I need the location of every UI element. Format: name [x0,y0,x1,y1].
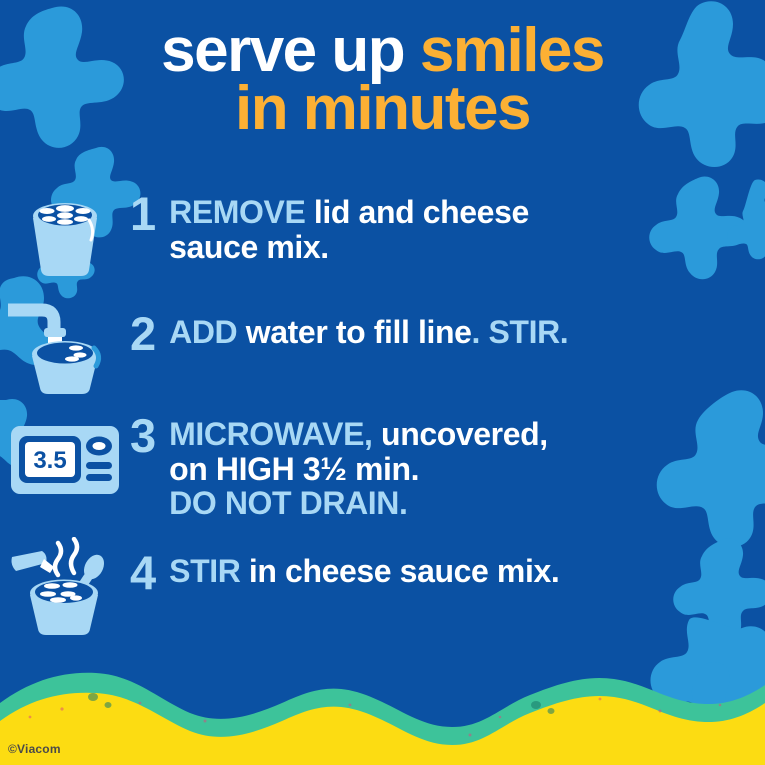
step-text: STIR in cheese sauce mix. [169,551,559,589]
step-keyword-2: DO NOT DRAIN. [169,485,407,521]
step-body: 4 STIR in cheese sauce mix. [130,535,765,596]
headline-line-1: serve up smiles [0,22,765,80]
copyright-notice: ©Viacom [8,742,61,756]
step-keyword-2: . STIR. [472,314,569,350]
step-rest: uncovered, [373,416,548,452]
microwave-icon: 3.5 [0,414,130,496]
step-body: 2 ADD water to fill line. STIR. [130,296,765,357]
cup-noodles-icon [0,192,130,278]
step-rest: sauce mix. [169,229,329,265]
step-keyword: ADD [169,314,237,350]
page-title: serve up smiles in minutes [0,22,765,139]
step-keyword: MICROWAVE, [169,416,372,452]
step-rest: water to fill line [237,314,471,350]
step-body: 1 REMOVE lid and cheese sauce mix. [130,192,765,264]
instruction-steps-list: 1 REMOVE lid and cheese sauce mix. [0,192,765,637]
poster-canvas: serve up smiles in minutes [0,0,765,765]
step-rest: on HIGH 3½ min. [169,451,419,487]
instruction-step: 2 ADD water to fill line. STIR. [0,296,765,396]
step-rest: lid and cheese [305,194,528,230]
step-rest: in cheese sauce mix. [240,553,559,589]
instruction-step: 1 REMOVE lid and cheese sauce mix. [0,192,765,284]
step-text: REMOVE lid and cheese sauce mix. [169,192,529,264]
step-number: 2 [130,312,156,357]
microwave-display: 3.5 [33,447,66,474]
seafloor-sand-band [0,655,765,765]
step-body: 3 MICROWAVE, uncovered, on HIGH 3½ min. … [130,414,765,521]
instruction-step: 3.5 3 MICROWAVE, uncovered, on HIGH 3½ m… [0,414,765,521]
stir-sauce-packet-icon [0,535,130,637]
step-text: MICROWAVE, uncovered, on HIGH 3½ min. DO… [169,414,548,521]
faucet-filling-cup-icon [0,296,130,396]
step-text: ADD water to fill line. STIR. [169,312,568,350]
step-keyword: REMOVE [169,194,305,230]
step-number: 4 [130,551,156,596]
step-number: 3 [130,414,156,459]
headline-line-2: in minutes [0,80,765,138]
instruction-step: 4 STIR in cheese sauce mix. [0,535,765,637]
step-keyword: STIR [169,553,240,589]
step-number: 1 [130,192,156,237]
